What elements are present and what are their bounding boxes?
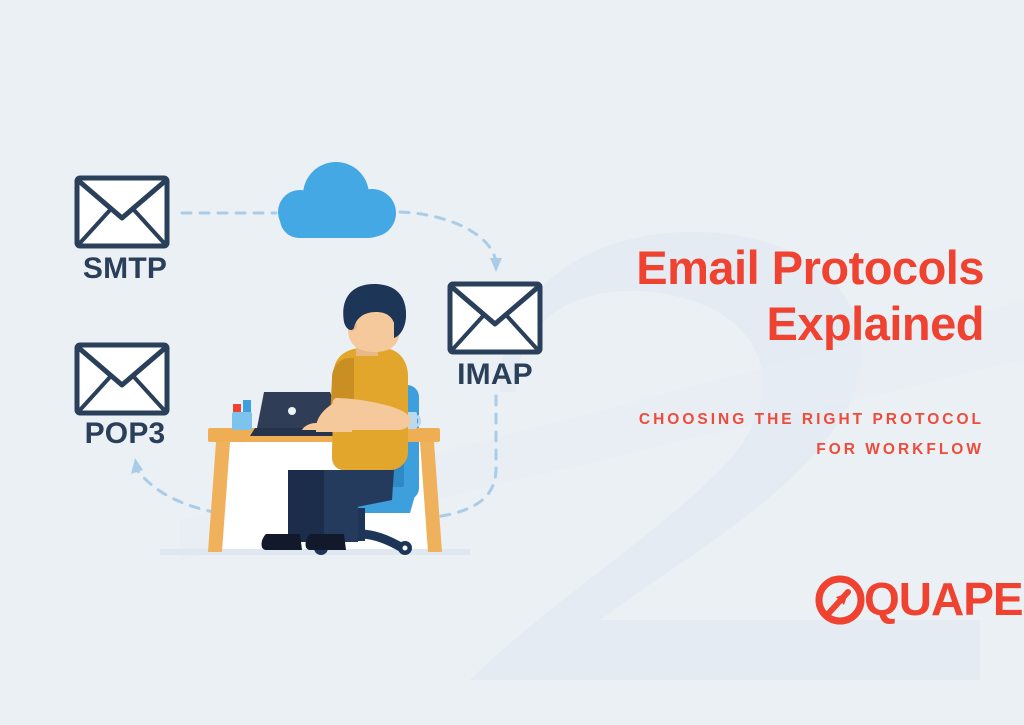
person-shoes <box>262 534 347 550</box>
person-arm <box>302 398 410 432</box>
person-torso <box>330 348 408 470</box>
envelope-imap <box>450 284 540 352</box>
headline-line-2: Explained <box>556 296 984 352</box>
subtitle-line-2: FOR WORKFLOW <box>556 435 984 465</box>
mug <box>399 412 420 429</box>
arrowhead-pop3 <box>131 458 143 474</box>
office-chair <box>314 385 419 555</box>
headline: Email Protocols Explained <box>556 240 984 352</box>
connector-cloud-to-imap <box>400 212 496 262</box>
quape-logo: QUAPE <box>812 572 982 630</box>
q-arrow-mark-icon <box>812 572 872 630</box>
label-pop3: POP3 <box>30 417 220 451</box>
laptop <box>250 392 354 436</box>
connector-imap-to-pop3 <box>137 396 496 521</box>
label-smtp: SMTP <box>30 252 220 286</box>
floor <box>160 549 470 555</box>
desk <box>208 428 442 552</box>
headline-line-1: Email Protocols <box>556 240 984 296</box>
arrowhead-imap <box>490 258 502 272</box>
envelope-pop3 <box>77 345 167 413</box>
subtitle-line-1: CHOOSING THE RIGHT PROTOCOL <box>556 405 984 435</box>
subtitle: CHOOSING THE RIGHT PROTOCOL FOR WORKFLOW <box>556 405 984 465</box>
wall-panel <box>212 430 440 552</box>
person-legs <box>288 470 394 542</box>
person-head <box>343 284 406 356</box>
poster-canvas: SMTP POP3 IMAP Email Protocols Explained… <box>0 0 1024 725</box>
envelope-smtp <box>77 178 167 246</box>
label-imap: IMAP <box>400 358 590 392</box>
pen-cup <box>232 400 252 430</box>
logo-wordmark: QUAPE <box>864 574 1023 624</box>
